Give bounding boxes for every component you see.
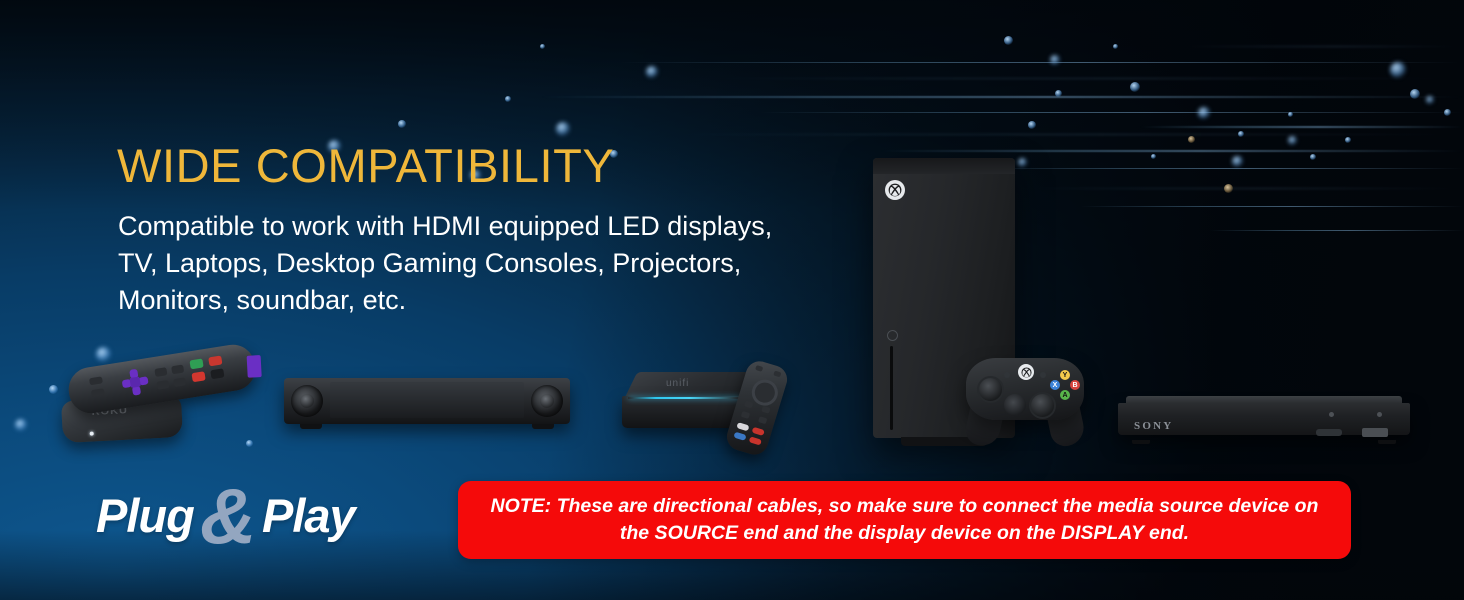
plug-and-play-logo: & Plug Play — [96, 486, 396, 552]
left-stick-icon — [977, 376, 1004, 403]
speaker-grill — [330, 382, 524, 418]
description-line-1: Compatible to work with HDMI equipped LE… — [118, 208, 878, 245]
button-a: A — [1060, 390, 1070, 400]
power-led-icon — [90, 432, 94, 436]
led-light-strip-icon — [628, 397, 740, 399]
button-y: Y — [1060, 370, 1070, 380]
xbox-controller: Y X B A — [966, 350, 1084, 446]
soundbar — [284, 378, 570, 424]
page-title: WIDE COMPATIBILITY — [117, 142, 614, 189]
note-banner: NOTE: These are directional cables, so m… — [458, 481, 1351, 559]
speaker-driver-left-icon — [291, 385, 323, 417]
disc-tray-icon — [1316, 429, 1342, 436]
face-buttons: Y X B A — [1050, 370, 1080, 400]
dpad-icon — [120, 367, 150, 397]
console-vent — [873, 158, 1015, 174]
logo-word-plug: Plug — [96, 492, 194, 539]
power-button-icon — [887, 330, 898, 341]
cube-brand-label: unifi — [666, 378, 689, 389]
button-b: B — [1070, 380, 1080, 390]
disc-slot — [890, 346, 893, 430]
speaker-driver-right-icon — [531, 385, 563, 417]
description-line-2: TV, Laptops, Desktop Gaming Consoles, Pr… — [118, 245, 878, 282]
usb-port-icon — [1362, 428, 1388, 437]
controller-dpad-icon — [1004, 394, 1026, 416]
description-line-3: Monitors, soundbar, etc. — [118, 282, 878, 319]
logo-word-play: Play — [262, 492, 355, 539]
note-text: NOTE: These are directional cables, so m… — [458, 493, 1351, 547]
xbox-guide-button-icon — [1018, 364, 1034, 380]
roku-logo-tag — [247, 355, 262, 378]
wide-compatibility-banner: WIDE COMPATIBILITY Compatible to work wi… — [0, 0, 1464, 600]
navigation-ring-icon — [749, 376, 781, 408]
description-text: Compatible to work with HDMI equipped LE… — [118, 208, 878, 319]
xbox-logo-icon — [885, 180, 905, 200]
logo-ampersand: & — [200, 477, 256, 555]
sony-brand-label: SONY — [1134, 420, 1173, 432]
sony-blu-ray-player: SONY — [1118, 396, 1410, 440]
button-x: X — [1050, 380, 1060, 390]
